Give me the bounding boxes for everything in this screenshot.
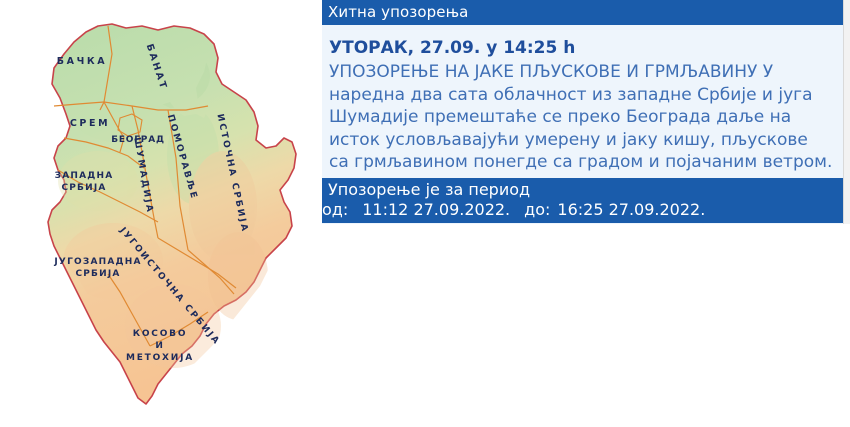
panel-right-edge [843,0,850,224]
alert-header-bar: Хитна упозорења [322,0,843,25]
alert-message: УПОЗОРЕЊЕ НА ЈАКЕ ПЉУСКОВЕ И ГРМЉАВИНУ У… [329,61,841,174]
period-from-value: 11:12 27.09.2022. [362,200,510,219]
serbia-map-panel: БАЧКА БАНАТ СРЕМ БЕОГРАД ЗАПАДНА СРБИЈА … [0,0,320,427]
alert-panel: Хитна упозорења УТОРАК, 27.09. у 14:25 h… [322,0,843,224]
alert-message-line: УПОЗОРЕЊЕ НА ЈАКЕ ПЉУСКОВЕ И ГРМЉАВИНУ У [329,61,841,84]
serbia-map[interactable]: БАЧКА БАНАТ СРЕМ БЕОГРАД ЗАПАДНА СРБИЈА … [8,6,314,421]
alert-message-line: Шумадије премештаће се преко Београда да… [329,106,841,129]
screenshot-root: БАЧКА БАНАТ СРЕМ БЕОГРАД ЗАПАДНА СРБИЈА … [0,0,850,427]
period-to-value: 16:25 27.09.2022. [557,200,705,219]
period-to-label: до: [524,200,550,219]
alert-message-line: наредна два сата облачност из западне Ср… [329,84,841,107]
alert-datetime: УТОРАК, 27.09. у 14:25 h [329,37,575,59]
alert-period-range: од:11:12 27.09.2022.до:16:25 27.09.2022. [322,199,705,221]
alert-period-label: Упозорење је за период [328,179,530,201]
alert-body: УТОРАК, 27.09. у 14:25 h УПОЗОРЕЊЕ НА ЈА… [322,28,843,176]
alert-header-title: Хитна упозорења [328,2,468,23]
alert-period-bar: Упозорење је за период од:11:12 27.09.20… [322,178,843,223]
alert-message-line: исток условљавајући умерену и јаку кишу,… [329,129,841,152]
period-from-label: од: [322,200,348,219]
alert-message-line: са грмљавином понегде са градом и појача… [329,151,841,174]
